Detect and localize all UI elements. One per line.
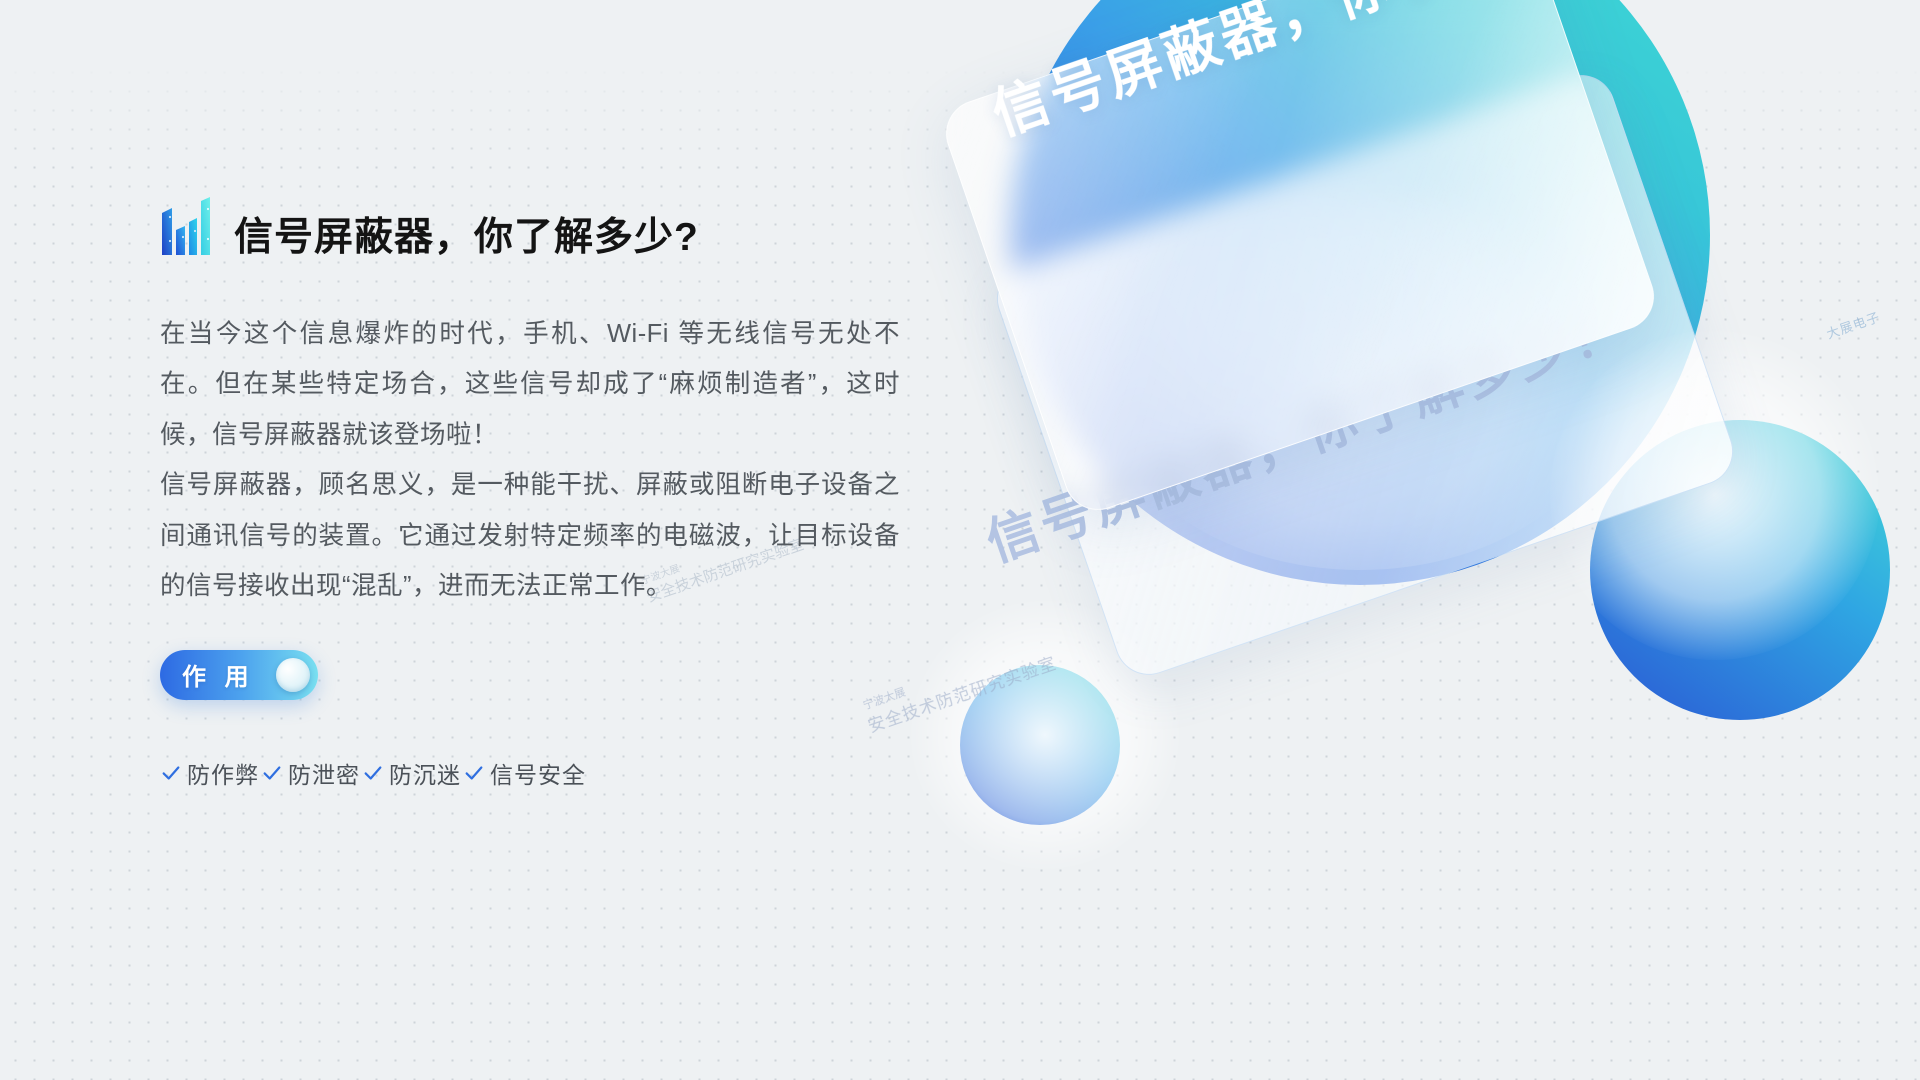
feature-tag-label: 防作弊 — [187, 756, 259, 790]
feature-tag-label: 信号安全 — [490, 756, 586, 790]
small-gradient-circle — [960, 665, 1120, 825]
check-icon — [160, 762, 182, 784]
check-icon — [261, 762, 283, 784]
list-item: 信号安全 — [463, 756, 588, 790]
article-body: 在当今这个信息爆炸的时代，手机、Wi-Fi 等无线信号无处不在。但在某些特定场合… — [160, 309, 900, 612]
page-title: 信号屏蔽器，你了解多少? — [234, 218, 699, 257]
hero-artwork: 信号屏蔽器，你了解多少？ 信号屏蔽器，你了解多少？ 宁波大展 安全技术防范研究实… — [980, 0, 1920, 940]
section-badge-effect[interactable]: 作 用 — [160, 650, 318, 700]
section-badge-label: 作 用 — [182, 657, 255, 692]
list-item: 防沉迷 — [362, 756, 463, 790]
bar-chart-icon — [160, 195, 212, 257]
article-content: 信号屏蔽器，你了解多少? 在当今这个信息爆炸的时代，手机、Wi-Fi 等无线信号… — [160, 195, 900, 790]
feature-tag-list: 防作弊 防泄密 防沉迷 信号安全 — [160, 756, 900, 790]
watermark-company: 大展电子 — [1823, 306, 1882, 342]
toggle-knob-icon[interactable] — [276, 658, 310, 692]
feature-tag-label: 防沉迷 — [389, 756, 461, 790]
list-item: 防泄密 — [261, 756, 362, 790]
article-paragraph: 在当今这个信息爆炸的时代，手机、Wi-Fi 等无线信号无处不在。但在某些特定场合… — [160, 309, 900, 460]
check-icon — [362, 762, 384, 784]
article-paragraph: 信号屏蔽器，顾名思义，是一种能干扰、屏蔽或阻断电子设备之间通讯信号的装置。它通过… — [160, 460, 900, 611]
feature-tag-label: 防泄密 — [288, 756, 360, 790]
list-item: 防作弊 — [160, 756, 261, 790]
page-header: 信号屏蔽器，你了解多少? — [160, 195, 900, 257]
check-icon — [463, 762, 485, 784]
